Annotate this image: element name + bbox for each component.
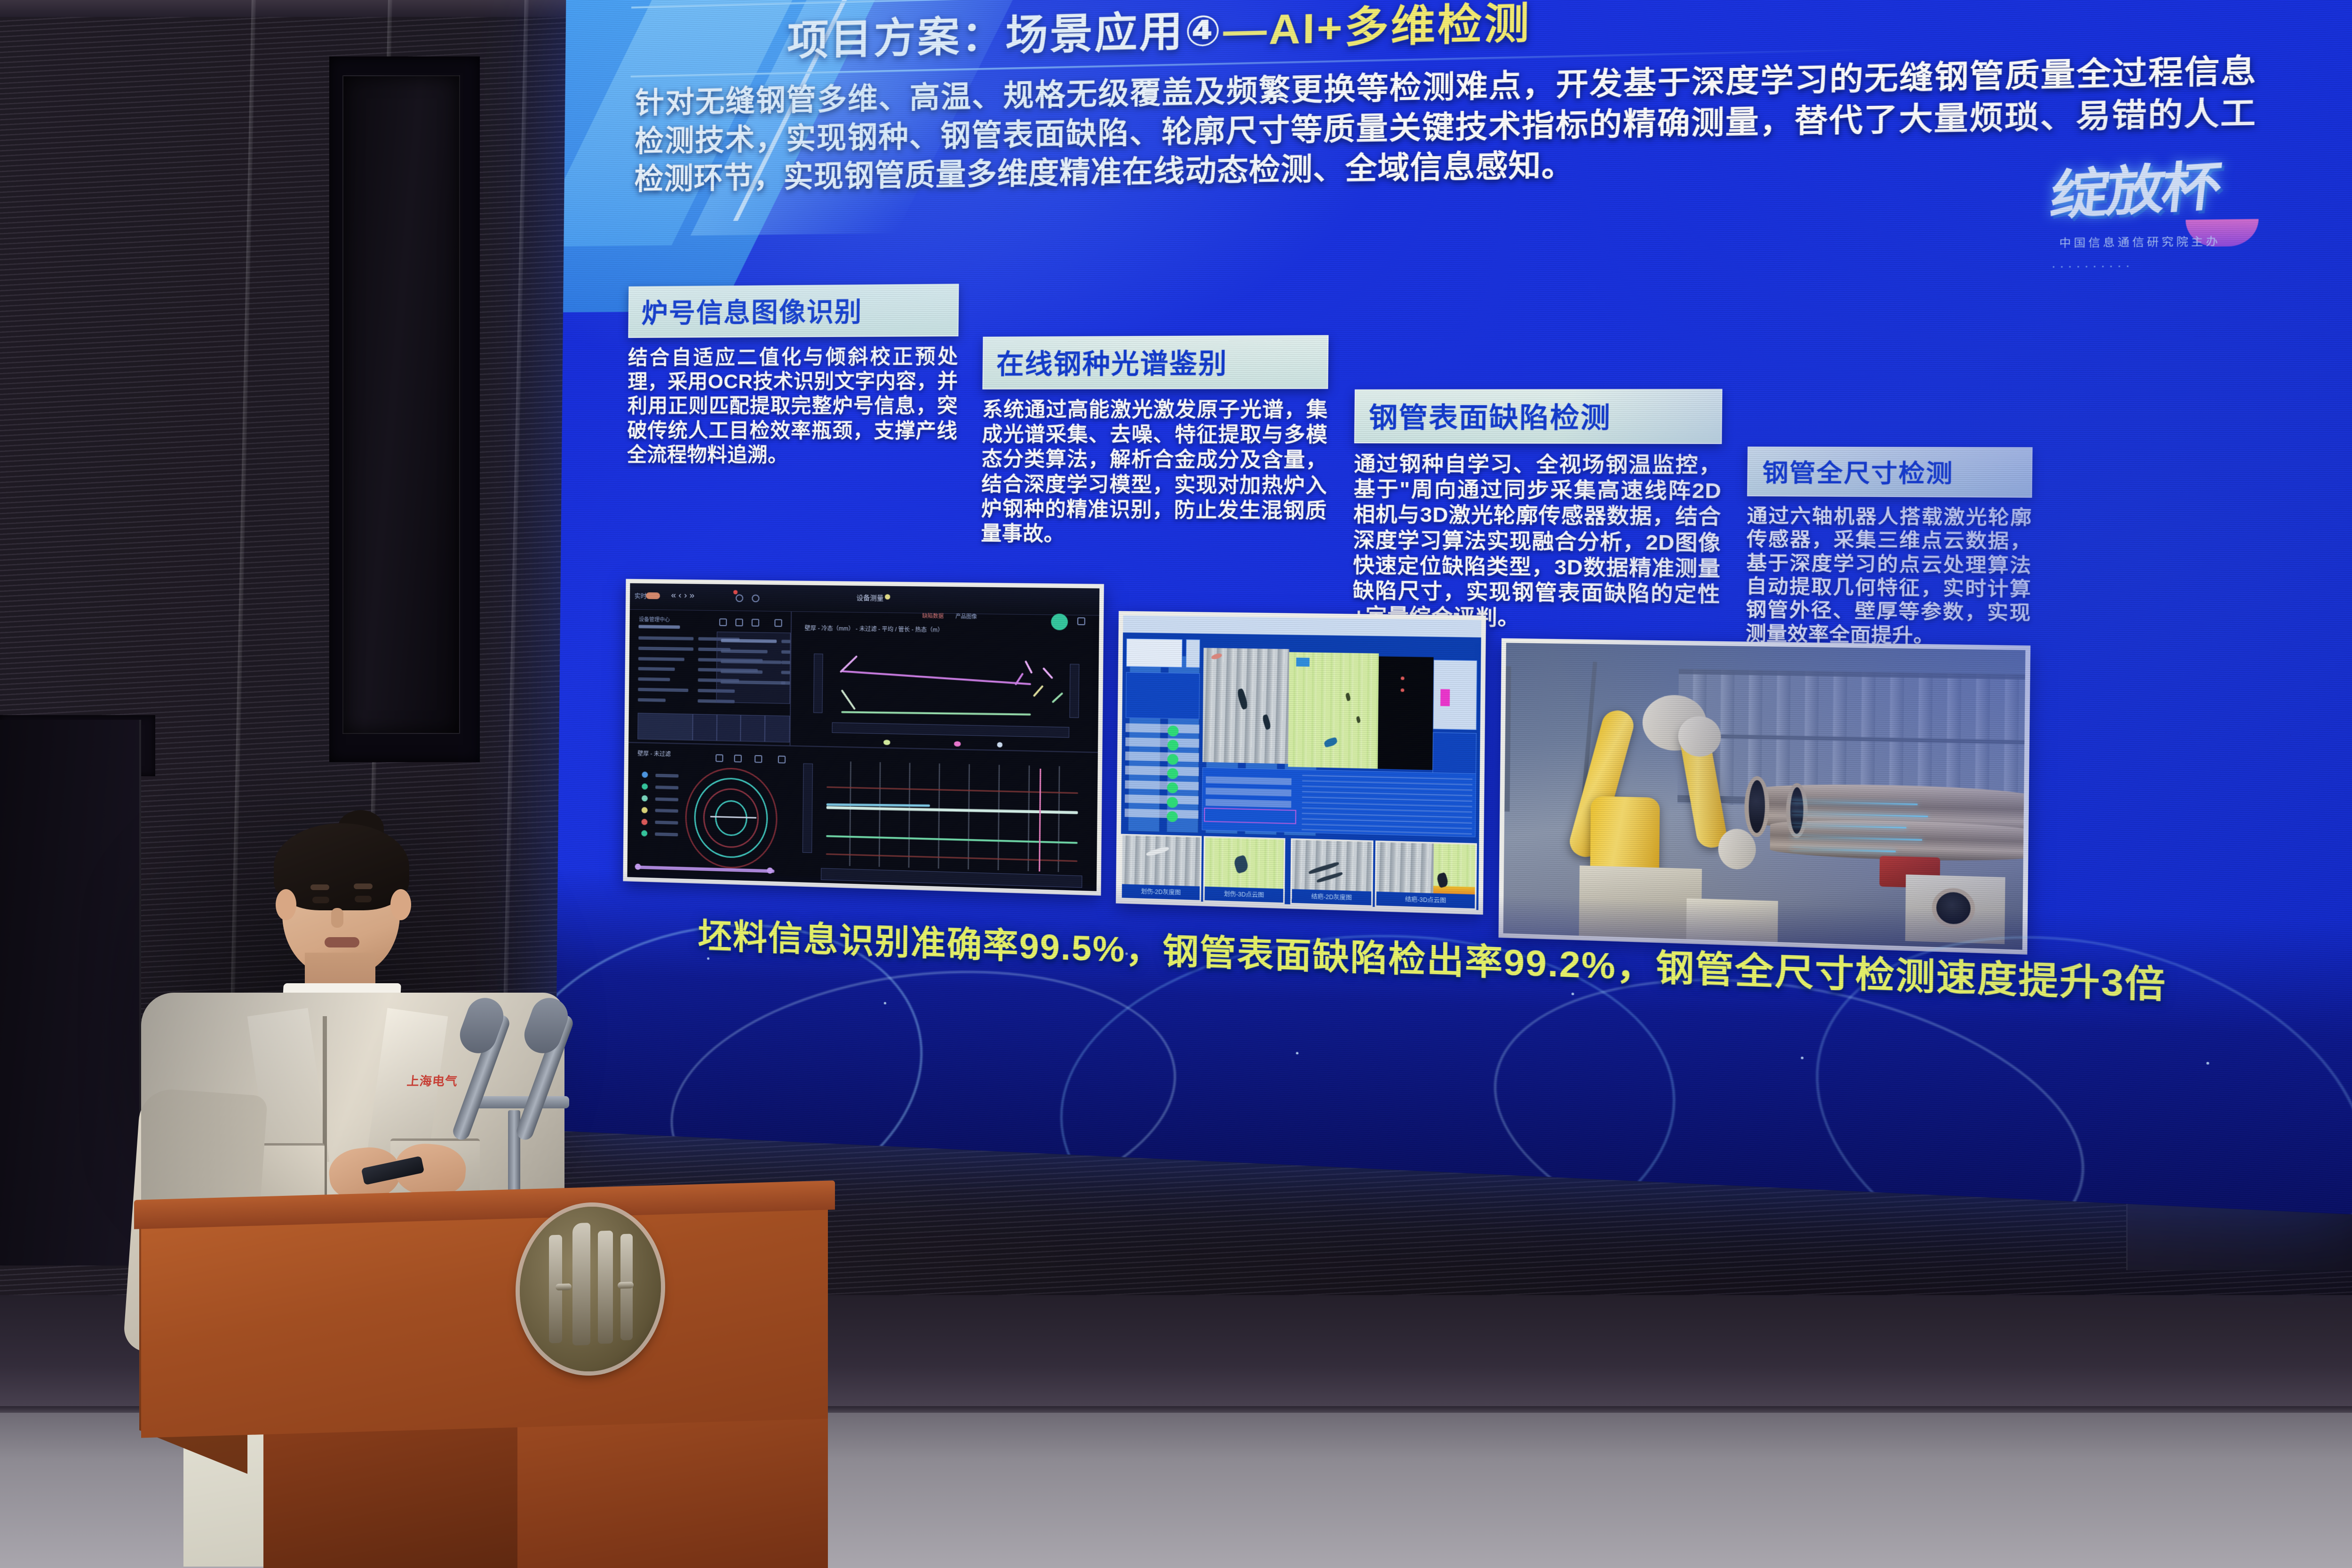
panel-analytics-dashboard: 实时 « ‹ › » 设备管理中心 [623,579,1104,895]
presenter-eye-right [355,896,372,902]
screenshot-root: 项目方案：场景应用④—AI+多维检测 针对无缝钢管多维、高温、规格无级覆盖及频繁… [0,0,2352,1568]
feature-card-2: 在线钢种光谱鉴别 系统通过高能激光激发原子光谱，集成光谱采集、去噪、特征提取与多… [981,335,1328,549]
competition-logo: 绽放杯 中国信息通信研究院主办 ·········· [2045,140,2296,283]
feature-card-1-heading-text: 炉号信息图像识别 [641,290,862,330]
page-title: 项目方案：场景应用④—AI+多维检测 [787,0,1532,67]
feature-card-2-heading-text: 在线钢种光谱鉴别 [996,342,1228,382]
presenter-jacket-logo: 上海电气 [406,1072,458,1089]
presenter-eyebrow-left [310,884,329,890]
feature-card-4-heading-text: 钢管全尺寸检测 [1762,453,1954,489]
panel-defect-detection-ui: 划伤-2D灰度图 划伤-3D点云图 结疤-2D灰度图 [1116,611,1486,915]
feature-card-1-heading: 炉号信息图像识别 [628,284,959,338]
podium-base-right [517,1416,828,1568]
presenter-nose [331,908,343,928]
presenter-ear-left [276,889,296,920]
presenter-ear-right [390,889,411,920]
feature-card-4-heading: 钢管全尺寸检测 [1747,446,2033,498]
feature-card-1-body: 结合自适应二值化与倾斜校正预处理，采用OCR技术识别文字内容，并利用正则匹配提取… [627,344,959,468]
competition-logo-tagline: 中国信息通信研究院主办 [2059,233,2221,250]
feature-card-3: 钢管表面缺陷检测 通过钢种自学习、全视场钢温监控，基于"周向通过同步采集高速线阵… [1352,389,1723,634]
feature-card-3-heading: 钢管表面缺陷检测 [1354,389,1723,444]
feature-card-2-body: 系统通过高能激光激发原子光谱，集成光谱采集、去噪、特征提取与多模态分类算法，解析… [981,397,1328,549]
presenter-eyebrow-right [354,883,373,889]
feature-card-1: 炉号信息图像识别 结合自适应二值化与倾斜校正预处理，采用OCR技术识别文字内容，… [627,284,959,468]
podium-front-panel [141,1198,828,1438]
competition-logo-mark: 绽放杯 [2047,142,2223,230]
feature-card-4-body: 通过六轴机器人搭载激光轮廓传感器，采集三维点云数据，基于深度学习的点云处理算法自… [1746,504,2032,649]
feature-card-4: 钢管全尺寸检测 通过六轴机器人搭载激光轮廓传感器，采集三维点云数据，基于深度学习… [1746,446,2033,649]
feature-card-2-heading: 在线钢种光谱鉴别 [982,335,1328,389]
slide-title-main: 项目方案：场景应用④ [787,8,1224,64]
feature-card-3-heading-text: 钢管表面缺陷检测 [1369,395,1612,436]
led-presentation-screen: 项目方案：场景应用④—AI+多维检测 针对无缝钢管多维、高温、规格无级覆盖及频繁… [556,0,2352,1215]
podium-base-left [263,1413,527,1568]
feature-card-3-body: 通过钢种自学习、全视场钢温监控，基于"周向通过同步采集高速线阵2D相机与3D激光… [1352,451,1722,633]
slide-title-accent: —AI+多维检测 [1223,0,1532,55]
presenter-eye-left [312,897,329,903]
competition-logo-dots: ·········· [2051,258,2133,275]
presenter-mouth [325,937,359,947]
wall-speaker [342,75,460,734]
